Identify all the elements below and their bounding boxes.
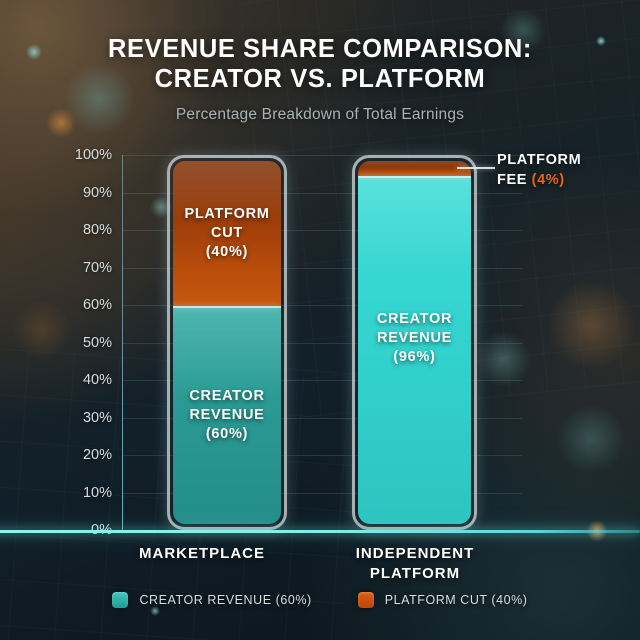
y-axis: 100% 90% 80% 70% 60% 50% 40% 30% 20% 10%… — [46, 155, 112, 530]
callout-line2: FEE (4%) — [497, 170, 637, 190]
category-label-line1: MARKETPLACE — [107, 544, 297, 564]
bar-marketplace[interactable]: PLATFORM CUT (40%) CREATOR REVENUE (60%) — [167, 155, 287, 530]
legend-item-platform-cut[interactable]: PLATFORM CUT (40%) — [358, 592, 528, 608]
bar-segment-creator-revenue[interactable]: CREATOR REVENUE (60%) — [173, 306, 281, 524]
y-tick-label: 40% — [46, 372, 112, 388]
bar-segment-platform-cut[interactable]: PLATFORM CUT (40%) — [173, 161, 281, 306]
chart-header: REVENUE SHARE COMPARISON: CREATOR VS. PL… — [0, 34, 640, 124]
y-tick-label: 20% — [46, 447, 112, 463]
bar-segment-creator-revenue[interactable]: CREATOR REVENUE (96%) — [358, 176, 471, 524]
segment-label-line2: REVENUE — [189, 406, 264, 425]
segment-label-line1: CREATOR — [377, 310, 452, 329]
chart-title-line2: CREATOR VS. PLATFORM — [0, 64, 640, 94]
legend-label: CREATOR REVENUE (60%) — [139, 593, 311, 607]
platform-fee-callout: PLATFORM FEE (4%) — [497, 150, 637, 190]
y-tick-label: 90% — [46, 185, 112, 201]
chart-legend: CREATOR REVENUE (60%) PLATFORM CUT (40%) — [0, 592, 640, 608]
y-tick-label: 30% — [46, 410, 112, 426]
plot-area: PLATFORM CUT (40%) CREATOR REVENUE (60%) — [122, 155, 522, 530]
legend-item-creator-revenue[interactable]: CREATOR REVENUE (60%) — [112, 592, 311, 608]
segment-label-value: (96%) — [377, 348, 452, 367]
bar-segment-label: PLATFORM CUT (40%) — [184, 205, 269, 262]
bar-independent-platform[interactable]: CREATOR REVENUE (96%) — [352, 155, 477, 530]
legend-swatch-icon — [358, 592, 374, 608]
axis-baseline — [0, 530, 640, 533]
chart-canvas: REVENUE SHARE COMPARISON: CREATOR VS. PL… — [0, 0, 640, 640]
segment-gloss — [358, 161, 471, 167]
chart-title-line1: REVENUE SHARE COMPARISON: — [0, 34, 640, 64]
segment-divider — [173, 306, 281, 308]
bokeh-orb — [556, 404, 626, 474]
y-tick-label: 100% — [46, 147, 112, 163]
y-tick-label: 10% — [46, 485, 112, 501]
y-tick-label: 70% — [46, 260, 112, 276]
bar-segment-platform-fee[interactable] — [358, 161, 471, 176]
segment-gloss — [358, 176, 471, 281]
bar-segment-label: CREATOR REVENUE (96%) — [377, 310, 452, 367]
segment-gloss — [173, 306, 281, 397]
callout-line2-text: FEE — [497, 172, 527, 188]
callout-value: (4%) — [532, 172, 565, 188]
legend-swatch-icon — [112, 592, 128, 608]
callout-line1: PLATFORM — [497, 150, 637, 170]
segment-divider — [358, 176, 471, 178]
y-tick-label: 80% — [46, 222, 112, 238]
segment-label-line1: PLATFORM — [184, 205, 269, 224]
y-tick-label: 60% — [46, 297, 112, 313]
chart-subtitle: Percentage Breakdown of Total Earnings — [0, 106, 640, 124]
category-label-independent-platform: INDEPENDENT PLATFORM — [320, 544, 510, 584]
category-label-line1: INDEPENDENT — [320, 544, 510, 564]
category-label-line2: PLATFORM — [320, 564, 510, 584]
segment-label-line2: CUT — [184, 224, 269, 243]
segment-label-value: (60%) — [189, 425, 264, 444]
callout-leader-line — [457, 167, 495, 169]
category-label-marketplace: MARKETPLACE — [107, 544, 297, 564]
legend-label: PLATFORM CUT (40%) — [385, 593, 528, 607]
segment-label-line1: CREATOR — [189, 387, 264, 406]
segment-label-line2: REVENUE — [377, 329, 452, 348]
bar-segment-label: CREATOR REVENUE (60%) — [189, 387, 264, 444]
y-tick-label: 50% — [46, 335, 112, 351]
segment-label-value: (40%) — [184, 243, 269, 262]
